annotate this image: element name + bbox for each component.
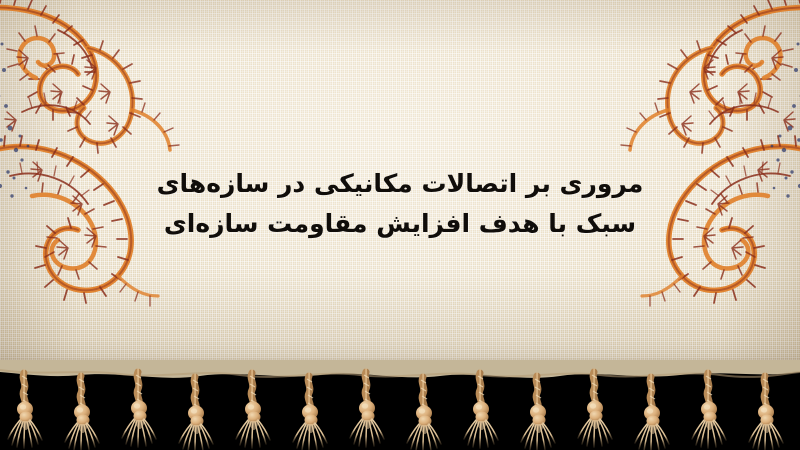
tassel-fringe [0, 360, 800, 450]
title-slide: مروری بر اتصالات مکانیکی در سازه‌های سبک… [0, 0, 800, 450]
termeh-cloth-background [0, 0, 800, 378]
